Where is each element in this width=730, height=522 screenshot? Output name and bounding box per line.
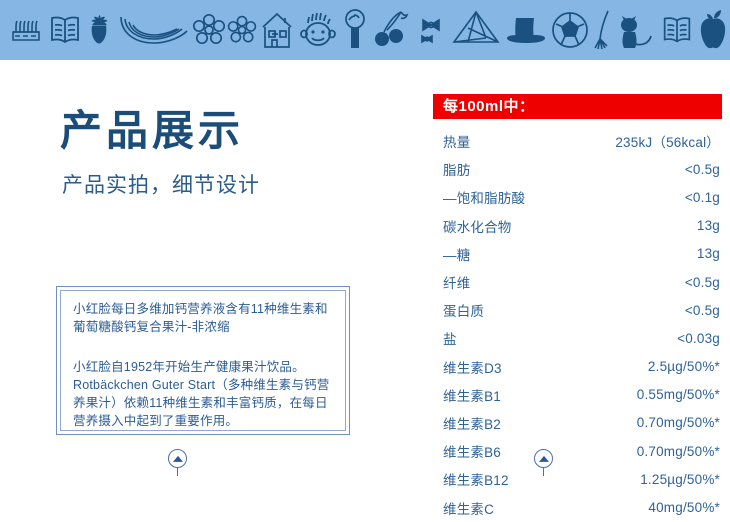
bow-tie-icon [413,13,449,47]
nutrition-row-label: 热量 [433,127,567,155]
nutrition-row: 维生素B10.55mg/50%* [433,381,722,409]
nutrition-row-value: 0.70mg/50%* [567,437,722,465]
nutrition-row-label: —饱和脂肪酸 [433,183,567,211]
kite-icon [451,9,501,51]
smiling-child-face-icon [297,9,339,51]
nutrition-row-label: 纤维 [433,268,567,296]
nutrition-row-value: <0.5g [567,155,722,183]
nutrition-row-value: 0.55mg/50%* [567,381,722,409]
scroll-anchor-stem-left [177,468,178,476]
tree-icon [341,8,369,52]
nutrition-panel-header: 每100ml中： [433,94,722,119]
nutrition-row-value: 40mg/50%* [567,493,722,521]
nutrition-row: 维生素B60.70mg/50%* [433,437,722,465]
nutrition-row: 维生素D32.5µg/50%* [433,353,722,381]
nutrition-row-label: 维生素B2 [433,409,567,437]
scroll-to-top-left-button[interactable] [168,449,187,468]
nutrition-row: 脂肪<0.5g [433,155,722,183]
nutrition-row-value: 0.70mg/50%* [567,409,722,437]
nutrition-row-label: 维生素B12 [433,465,567,493]
nutrition-row-value: <0.1g [567,183,722,211]
icon-strip [6,0,730,60]
hammock-icon [118,13,190,47]
scroll-to-top-right-button[interactable] [534,449,553,468]
open-book-icon-2 [660,11,694,49]
nutrition-row: 盐<0.03g [433,324,722,352]
flower-icon [192,13,226,47]
nutrition-row: 维生素B20.70mg/50%* [433,409,722,437]
decorative-header-band [0,0,730,60]
page-subtitle: 产品实拍，细节设计 [62,175,260,196]
nutrition-row: 蛋白质<0.5g [433,296,722,324]
nutrition-row-value: 13g [567,212,722,240]
nutrition-row-label: 维生素D3 [433,353,567,381]
cherries-icon [371,8,411,52]
nutrition-row-value: <0.03g [567,324,722,352]
nutrition-row-label: 脂肪 [433,155,567,183]
nutrition-row-value: <0.5g [567,268,722,296]
nutrition-row-value: 1.25µg/50%* [567,465,722,493]
cat-icon [616,8,658,52]
product-description-paragraph-2: 小红脸自1952年开始生产健康果汁饮品。Rotbäckchen Guter St… [73,358,333,430]
nutrition-row-label: 碳水化合物 [433,212,567,240]
nutrition-row-label: 维生素B1 [433,381,567,409]
strawberry-icon [84,9,116,51]
broom-icon [592,8,614,52]
nutrition-row: 维生素B121.25µg/50%* [433,465,722,493]
nutrition-row: —饱和脂肪酸<0.1g [433,183,722,211]
triangle-up-icon [539,455,549,461]
page-title: 产品展示 [60,110,244,152]
nutrition-row: 纤维<0.5g [433,268,722,296]
nutrition-row-label: 盐 [433,324,567,352]
nutrition-table: 热量235kJ（56kcal）脂肪<0.5g—饱和脂肪酸<0.1g碳水化合物13… [433,127,722,522]
nutrition-panel: 每100ml中： 热量235kJ（56kcal）脂肪<0.5g—饱和脂肪酸<0.… [433,94,722,522]
birthday-cake-icon [6,10,46,50]
soccer-ball-icon [550,10,590,50]
product-description-paragraph-1: 小红脸每日多维加钙营养液含有11种维生素和葡萄糖酸钙复合果汁-非浓缩 [73,300,333,336]
house-icon [259,9,295,51]
top-hat-icon [503,10,549,50]
product-description-box: 小红脸每日多维加钙营养液含有11种维生素和葡萄糖酸钙复合果汁-非浓缩 小红脸自1… [56,286,350,435]
nutrition-row: 维生素C40mg/50%* [433,493,722,521]
nutrition-row-value: 2.5µg/50%* [567,353,722,381]
nutrition-row-label: 蛋白质 [433,296,567,324]
nutrition-row-value: 235kJ（56kcal） [567,127,722,155]
product-description-box-inner: 小红脸每日多维加钙营养液含有11种维生素和葡萄糖酸钙复合果汁-非浓缩 小红脸自1… [60,290,346,431]
nutrition-row-label: 维生素C [433,493,567,521]
nutrition-row: —糖13g [433,240,722,268]
nutrition-row-value: 13g [567,240,722,268]
apple-icon [696,8,730,52]
open-book-icon [48,10,82,50]
nutrition-row: 碳水化合物13g [433,212,722,240]
triangle-up-icon [173,455,183,461]
nutrition-row: 热量235kJ（56kcal） [433,127,722,155]
nutrition-row-label: —糖 [433,240,567,268]
scroll-anchor-stem-right [543,468,544,476]
nutrition-row-value: <0.5g [567,296,722,324]
nutrition-table-body: 热量235kJ（56kcal）脂肪<0.5g—饱和脂肪酸<0.1g碳水化合物13… [433,127,722,522]
flower-small-icon [227,15,257,45]
